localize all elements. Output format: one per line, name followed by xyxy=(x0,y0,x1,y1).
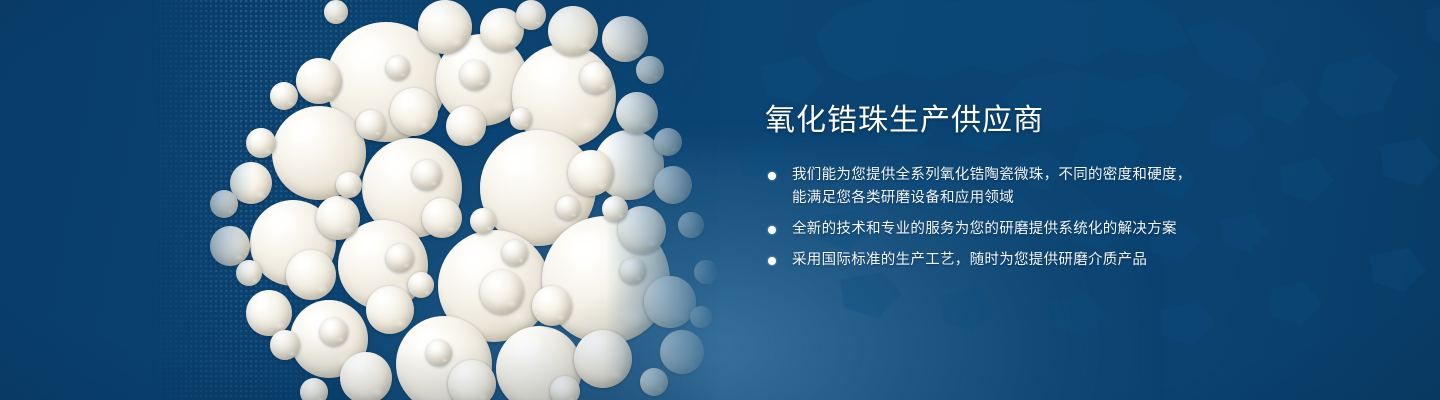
list-item-line-1: 采用国际标准的生产工艺，随时为您提供研磨介质产品 xyxy=(792,249,1405,272)
list-item-line-1: 全新的技术和专业的服务为您的研磨提供系统化的解决方案 xyxy=(792,218,1405,241)
hero-banner: 氧化锆珠生产供应商 我们能为您提供全系列氧化锆陶瓷微珠，不同的密度和硬度， 能满… xyxy=(0,0,1440,400)
list-item: 采用国际标准的生产工艺，随时为您提供研磨介质产品 xyxy=(765,249,1405,272)
list-item-line-2: 能满足您各类研磨设备和应用领域 xyxy=(792,187,1405,210)
bullet-dot-icon xyxy=(768,257,776,265)
zirconia-beads-photo xyxy=(150,0,720,400)
banner-content: 氧化锆珠生产供应商 我们能为您提供全系列氧化锆陶瓷微珠，不同的密度和硬度， 能满… xyxy=(765,104,1405,272)
bullet-dot-icon xyxy=(768,172,776,180)
list-item-line-1: 我们能为您提供全系列氧化锆陶瓷微珠，不同的密度和硬度， xyxy=(792,164,1405,187)
list-item: 全新的技术和专业的服务为您的研磨提供系统化的解决方案 xyxy=(765,218,1405,241)
list-item: 我们能为您提供全系列氧化锆陶瓷微珠，不同的密度和硬度， 能满足您各类研磨设备和应… xyxy=(765,164,1405,210)
bullet-dot-icon xyxy=(768,226,776,234)
page-title: 氧化锆珠生产供应商 xyxy=(765,104,1405,138)
feature-list: 我们能为您提供全系列氧化锆陶瓷微珠，不同的密度和硬度， 能满足您各类研磨设备和应… xyxy=(765,164,1405,272)
